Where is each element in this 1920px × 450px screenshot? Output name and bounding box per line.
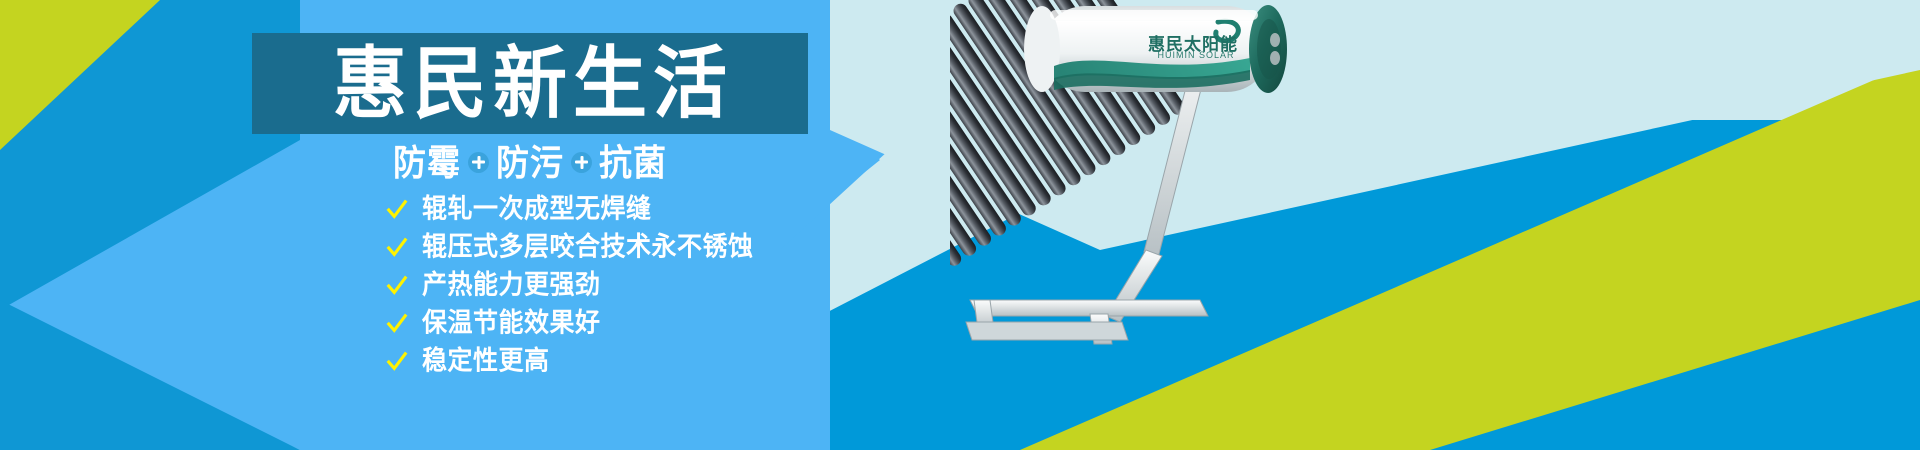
plus-circle-icon (468, 152, 489, 173)
subtitle-row: 防霉 防污 抗菌 (252, 140, 808, 184)
list-item: 辊轧一次成型无焊缝 (386, 194, 754, 225)
feature-label: 产热能力更强劲 (422, 272, 601, 299)
check-icon (386, 199, 408, 221)
promo-banner: 惠民新生活 防霉 防污 抗菌 辊轧一次成型无焊缝 辊压式多层咬合技术永不锈蚀 (0, 0, 1920, 450)
check-icon (386, 275, 408, 297)
headline-plate: 惠民新生活 (252, 33, 808, 134)
list-item: 稳定性更高 (386, 346, 754, 377)
page-title: 惠民新生活 (327, 44, 733, 122)
list-item: 产热能力更强劲 (386, 270, 754, 301)
check-icon (386, 237, 408, 259)
feature-label: 辊轧一次成型无焊缝 (422, 196, 652, 223)
product-image-solar-water-heater (950, 0, 1380, 360)
feature-list: 辊轧一次成型无焊缝 辊压式多层咬合技术永不锈蚀 产热能力更强劲 保温节能效果好 (386, 194, 754, 377)
subtitle-word-3: 抗菌 (599, 144, 667, 180)
list-item: 保温节能效果好 (386, 308, 754, 339)
copy-block: 惠民新生活 防霉 防污 抗菌 辊轧一次成型无焊缝 辊压式多层咬合技术永不锈蚀 (0, 0, 830, 450)
subtitle-word-2: 防污 (496, 144, 564, 180)
feature-label: 稳定性更高 (422, 348, 550, 375)
subtitle-word-1: 防霉 (393, 144, 461, 180)
plus-circle-icon (571, 152, 592, 173)
list-item: 辊压式多层咬合技术永不锈蚀 (386, 232, 754, 263)
feature-label: 保温节能效果好 (422, 310, 601, 337)
check-icon (386, 351, 408, 373)
feature-label: 辊压式多层咬合技术永不锈蚀 (422, 234, 754, 261)
water-tank (1024, 5, 1287, 93)
check-icon (386, 313, 408, 335)
solar-water-heater-graphic (950, 0, 1380, 360)
